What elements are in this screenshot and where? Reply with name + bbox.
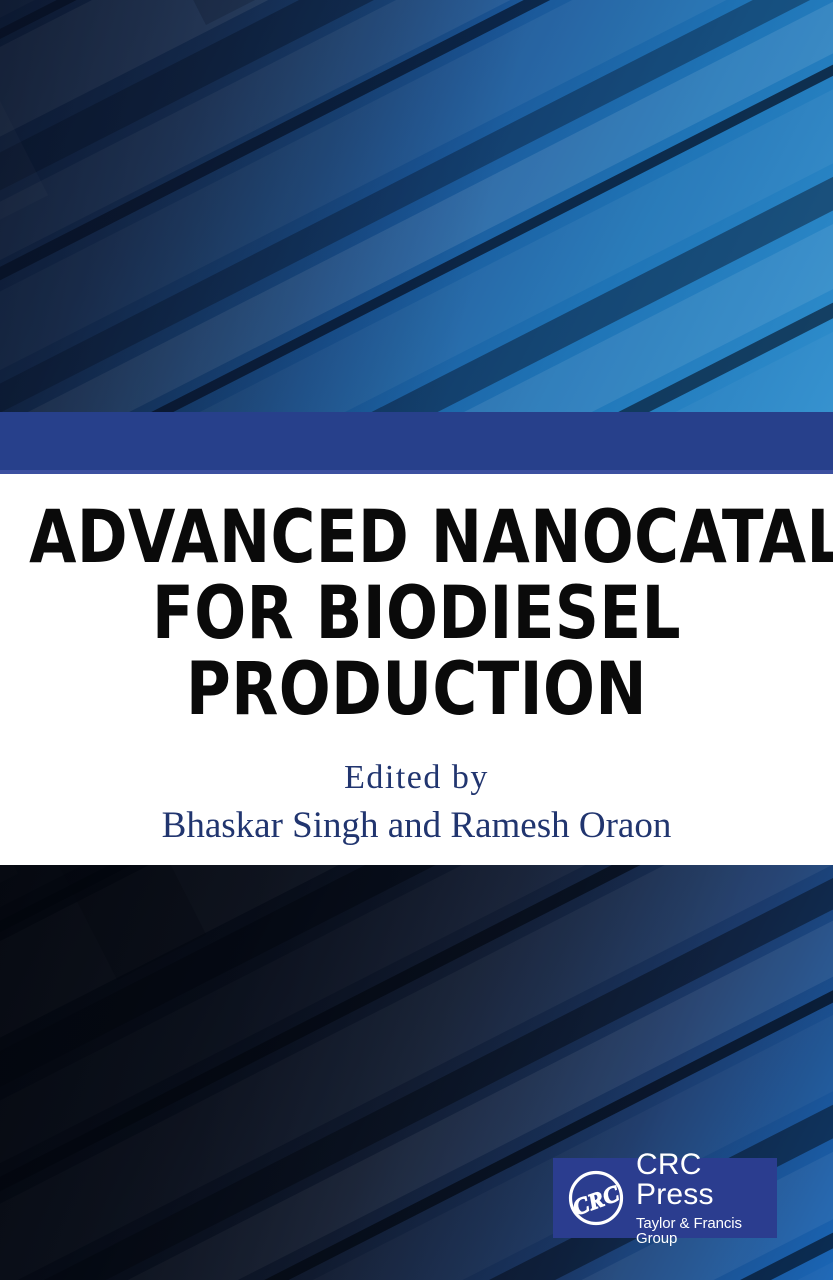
crc-press-wordmark: CRC Press Taylor & Francis Group xyxy=(636,1150,777,1246)
indigo-separator-band xyxy=(0,412,833,470)
publisher-group: Taylor & Francis Group xyxy=(636,1216,777,1246)
top-decorative-artwork xyxy=(0,0,833,412)
edited-by-label: Edited by xyxy=(0,756,833,800)
book-cover: ADVANCED NANOCATALYSTS FOR BIODIESEL PRO… xyxy=(0,0,833,1280)
book-title-line-3: PRODUCTION xyxy=(29,652,804,728)
crc-press-logo: CRC CRC Press Taylor & Francis Group xyxy=(553,1158,777,1238)
book-title: ADVANCED NANOCATALYSTS FOR BIODIESEL PRO… xyxy=(29,500,804,728)
title-panel: ADVANCED NANOCATALYSTS FOR BIODIESEL PRO… xyxy=(0,474,833,865)
top-art-vignette xyxy=(0,0,833,412)
book-title-line-2: FOR BIODIESEL xyxy=(29,576,804,652)
publisher-name: CRC Press xyxy=(636,1150,777,1210)
byline: Edited by Bhaskar Singh and Ramesh Oraon xyxy=(0,756,833,850)
editor-names: Bhaskar Singh and Ramesh Oraon xyxy=(0,802,833,850)
book-title-line-1: ADVANCED NANOCATALYSTS xyxy=(29,500,804,576)
crc-roundel-icon: CRC xyxy=(567,1169,625,1227)
